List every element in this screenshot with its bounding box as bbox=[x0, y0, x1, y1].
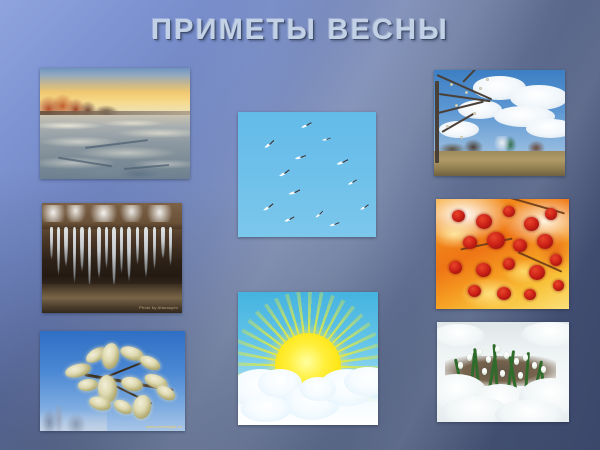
snow-drift bbox=[437, 324, 485, 348]
snow-drift bbox=[521, 322, 569, 348]
snowdrop-flower bbox=[477, 349, 482, 356]
rowan-berry-cluster bbox=[487, 232, 505, 249]
sun-above-clouds-illustration[interactable] bbox=[238, 292, 378, 425]
photo-content bbox=[238, 112, 376, 237]
illustration-content bbox=[238, 292, 378, 425]
snowdrop-flower bbox=[514, 358, 519, 365]
spring-village-landscape-photo[interactable] bbox=[434, 70, 565, 176]
rowan-berry-cluster bbox=[468, 285, 481, 297]
rowan-berry-cluster bbox=[476, 263, 491, 277]
ice-drift-river-sunset-photo[interactable] bbox=[40, 68, 190, 179]
snowdrop-flower bbox=[518, 372, 523, 379]
rowan-berry-cluster bbox=[463, 236, 477, 249]
flying-bird bbox=[294, 154, 306, 161]
icicle bbox=[97, 227, 101, 279]
snowdrop-flower bbox=[486, 356, 491, 363]
bare-tree-branch bbox=[435, 81, 439, 164]
photo-watermark: www.photosight.ru bbox=[146, 424, 182, 429]
photo-content bbox=[437, 322, 569, 422]
snowdrop-flower bbox=[482, 368, 487, 375]
cloud-puff bbox=[344, 367, 378, 396]
rowan-berry-cluster bbox=[529, 265, 545, 280]
migrating-birds-photo[interactable] bbox=[238, 112, 376, 237]
snowdrops-in-snow-photo[interactable] bbox=[437, 322, 569, 422]
ice-floes bbox=[40, 117, 190, 179]
photo-content: www.photosight.ru bbox=[40, 331, 185, 431]
slide-title: ПРИМЕТЫ ВЕСНЫ bbox=[0, 14, 600, 47]
rowan-berry-cluster bbox=[524, 217, 539, 231]
photo-content: Photo by Afanasyev bbox=[42, 203, 182, 313]
rowan-berry-cluster bbox=[449, 261, 462, 274]
presentation-slide: ПРИМЕТЫ ВЕСНЫ bbox=[0, 0, 600, 450]
icicle bbox=[136, 227, 139, 264]
photo-watermark: Photo by Afanasyev bbox=[139, 305, 178, 310]
snow-drift bbox=[495, 400, 564, 422]
rowan-berry-cluster bbox=[524, 289, 536, 300]
tree-bud bbox=[455, 104, 458, 107]
clear-blue-sky bbox=[238, 112, 376, 237]
rowan-berry-cluster bbox=[513, 239, 527, 252]
icicle bbox=[153, 227, 156, 270]
snowdrop-flower bbox=[532, 362, 537, 369]
tree-bud bbox=[460, 136, 463, 139]
tree-bud bbox=[446, 125, 449, 128]
rowan-berry-cluster bbox=[503, 206, 515, 217]
photo-content bbox=[40, 68, 190, 179]
tree-bud bbox=[479, 87, 482, 90]
rowan-berry-cluster bbox=[545, 208, 557, 220]
dry-grass-field bbox=[434, 151, 565, 176]
cloud-puff bbox=[300, 377, 336, 401]
icicles-on-roof-photo[interactable]: Photo by Afanasyev bbox=[42, 203, 182, 313]
rowan-berries-photo[interactable] bbox=[436, 199, 569, 309]
rowan-berry-cluster bbox=[452, 210, 465, 222]
photo-content bbox=[436, 199, 569, 309]
snowdrop-flower bbox=[523, 354, 528, 361]
tree-bud bbox=[450, 83, 453, 86]
rowan-berry-cluster bbox=[503, 258, 515, 270]
photo-content bbox=[434, 70, 565, 176]
pussy-willow-photo[interactable]: www.photosight.ru bbox=[40, 331, 185, 431]
